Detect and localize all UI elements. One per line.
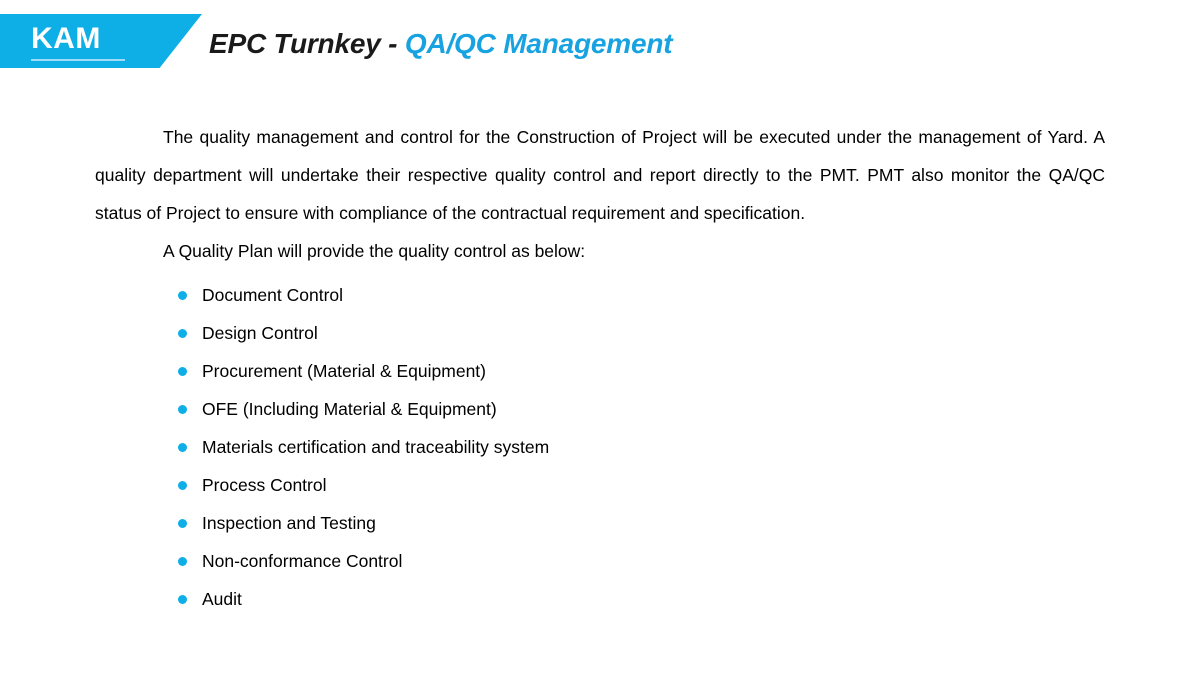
bullet-dot-icon <box>178 481 187 490</box>
list-item-label: Process Control <box>202 475 327 496</box>
slide-body: The quality management and control for t… <box>0 118 1200 618</box>
list-item-label: OFE (Including Material & Equipment) <box>202 399 497 420</box>
bullet-dot-icon <box>178 367 187 376</box>
list-item: Document Control <box>0 276 1200 314</box>
list-item: Design Control <box>0 314 1200 352</box>
bullet-dot-icon <box>178 443 187 452</box>
bullet-dot-icon <box>178 329 187 338</box>
list-item: Inspection and Testing <box>0 504 1200 542</box>
bullet-dot-icon <box>178 291 187 300</box>
list-item: Audit <box>0 580 1200 618</box>
bullet-dot-icon <box>178 595 187 604</box>
intro-paragraph: The quality management and control for t… <box>0 118 1200 232</box>
quality-plan-lead-in: A Quality Plan will provide the quality … <box>0 232 1200 270</box>
list-item-label: Audit <box>202 589 242 610</box>
slide-header: KAM EPC Turnkey - QA/QC Management <box>0 0 1200 90</box>
kam-logo-banner: KAM <box>0 14 202 68</box>
list-item: Non-conformance Control <box>0 542 1200 580</box>
bullet-dot-icon <box>178 405 187 414</box>
list-item-label: Design Control <box>202 323 318 344</box>
list-item: Process Control <box>0 466 1200 504</box>
quality-control-list: Document Control Design Control Procurem… <box>0 276 1200 618</box>
logo-text: KAM <box>31 24 101 54</box>
list-item-label: Document Control <box>202 285 343 306</box>
logo-underline <box>31 59 125 61</box>
list-item: Materials certification and traceability… <box>0 428 1200 466</box>
bullet-dot-icon <box>178 557 187 566</box>
list-item: OFE (Including Material & Equipment) <box>0 390 1200 428</box>
page-title: EPC Turnkey - QA/QC Management <box>209 28 672 60</box>
bullet-dot-icon <box>178 519 187 528</box>
list-item-label: Procurement (Material & Equipment) <box>202 361 486 382</box>
list-item-label: Materials certification and traceability… <box>202 437 549 458</box>
list-item-label: Non-conformance Control <box>202 551 402 572</box>
list-item-label: Inspection and Testing <box>202 513 376 534</box>
list-item: Procurement (Material & Equipment) <box>0 352 1200 390</box>
page-title-main: EPC Turnkey - <box>209 28 405 59</box>
page-title-accent: QA/QC Management <box>405 28 673 59</box>
